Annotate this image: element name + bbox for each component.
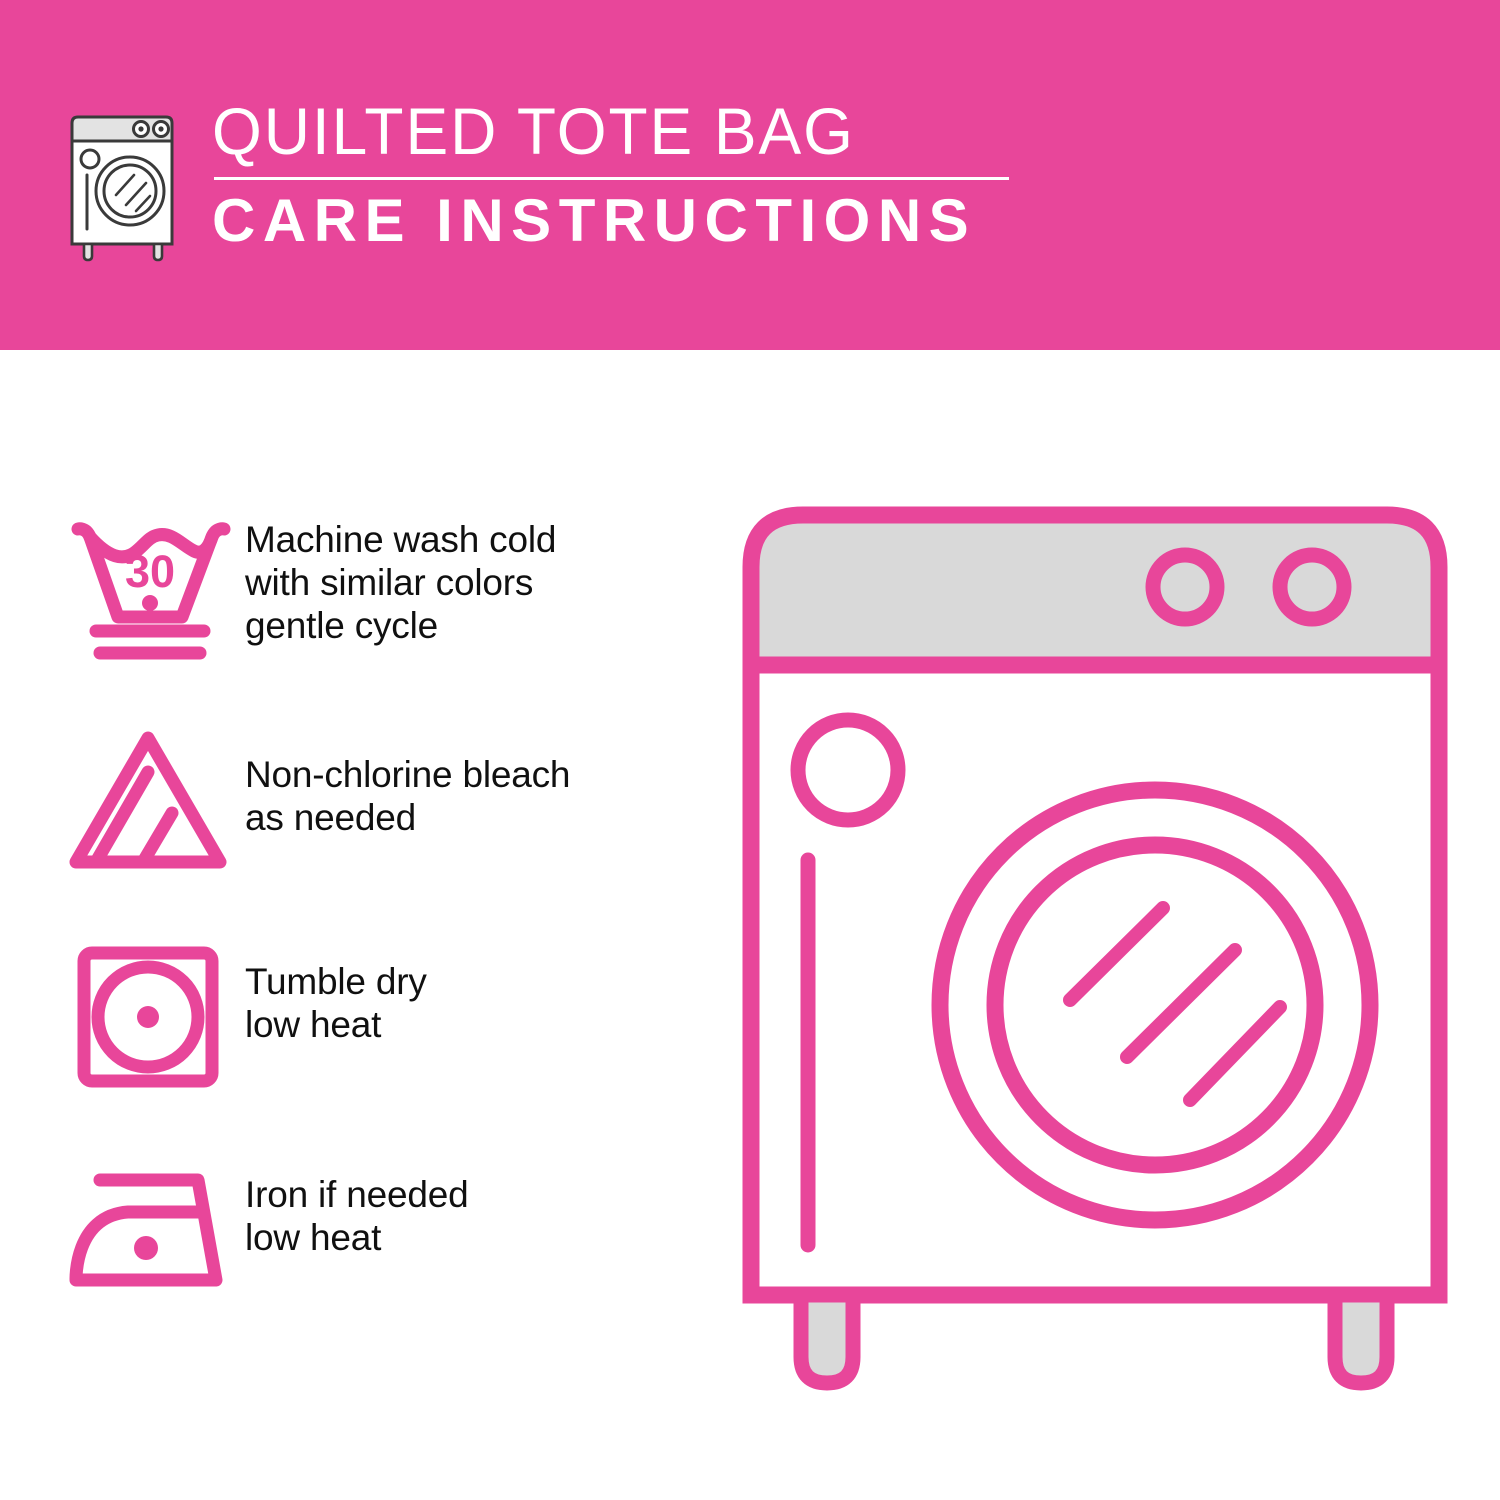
care-label-line: low heat (245, 1003, 720, 1046)
washing-machine-icon (62, 103, 187, 263)
title-block: QUILTED TOTE BAG CARE INSTRUCTIONS (212, 95, 1062, 254)
wash-temperature-value: 30 (125, 546, 175, 597)
control-panel (751, 515, 1439, 665)
shine-lines (1070, 908, 1280, 1100)
leg-right (1335, 1295, 1387, 1383)
care-label: Iron if needed low heat (245, 1145, 720, 1259)
list-item: Iron if needed low heat (60, 1145, 720, 1360)
small-circle (798, 720, 898, 820)
header-banner: QUILTED TOTE BAG CARE INSTRUCTIONS (0, 0, 1500, 350)
page-subtitle: CARE INSTRUCTIONS (212, 188, 1062, 254)
care-label-line: low heat (245, 1216, 720, 1259)
care-label-line: Tumble dry (245, 960, 720, 1003)
care-label-line: as needed (245, 796, 720, 839)
list-item: Tumble dry low heat (60, 930, 720, 1145)
care-label-line: Machine wash cold (245, 518, 720, 561)
care-instructions-list: 30 Machine wash cold with similar colors… (60, 500, 720, 1360)
list-item: Non-chlorine bleach as needed (60, 715, 720, 930)
iron-low-heat-icon (60, 1145, 245, 1320)
care-label-line: Non-chlorine bleach (245, 753, 720, 796)
door-inner-ring (995, 845, 1315, 1165)
leg-left (801, 1295, 853, 1383)
care-label-line: Iron if needed (245, 1173, 720, 1216)
bleach-triangle-non-chlorine-icon (60, 715, 245, 890)
page-title: QUILTED TOTE BAG (212, 95, 1037, 167)
care-label-line: gentle cycle (245, 604, 720, 647)
door-outer-ring (940, 790, 1370, 1220)
list-item: 30 Machine wash cold with similar colors… (60, 500, 720, 715)
tumble-dry-low-icon (60, 930, 245, 1105)
title-divider (214, 177, 1009, 180)
care-label: Tumble dry low heat (245, 930, 720, 1046)
header-content: QUILTED TOTE BAG CARE INSTRUCTIONS (62, 95, 1062, 270)
washing-machine-illustration (735, 495, 1455, 1435)
care-label: Machine wash cold with similar colors ge… (245, 500, 720, 647)
care-label: Non-chlorine bleach as needed (245, 715, 720, 839)
wash-tub-30-gentle-icon: 30 (60, 500, 245, 675)
care-label-line: with similar colors (245, 561, 720, 604)
